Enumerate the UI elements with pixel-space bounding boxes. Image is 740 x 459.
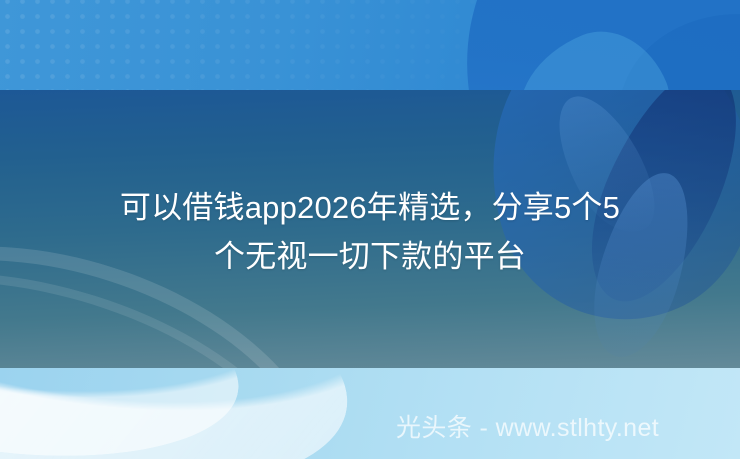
site-watermark: 光头条 - www.stlhty.net [396,411,659,445]
banner-title: 可以借钱app2026年精选，分享5个5 个无视一切下款的平台 [40,183,700,281]
promo-banner: 可以借钱app2026年精选，分享5个5 个无视一切下款的平台 光头条 - ww… [0,0,740,459]
top-blue-band [0,0,740,90]
